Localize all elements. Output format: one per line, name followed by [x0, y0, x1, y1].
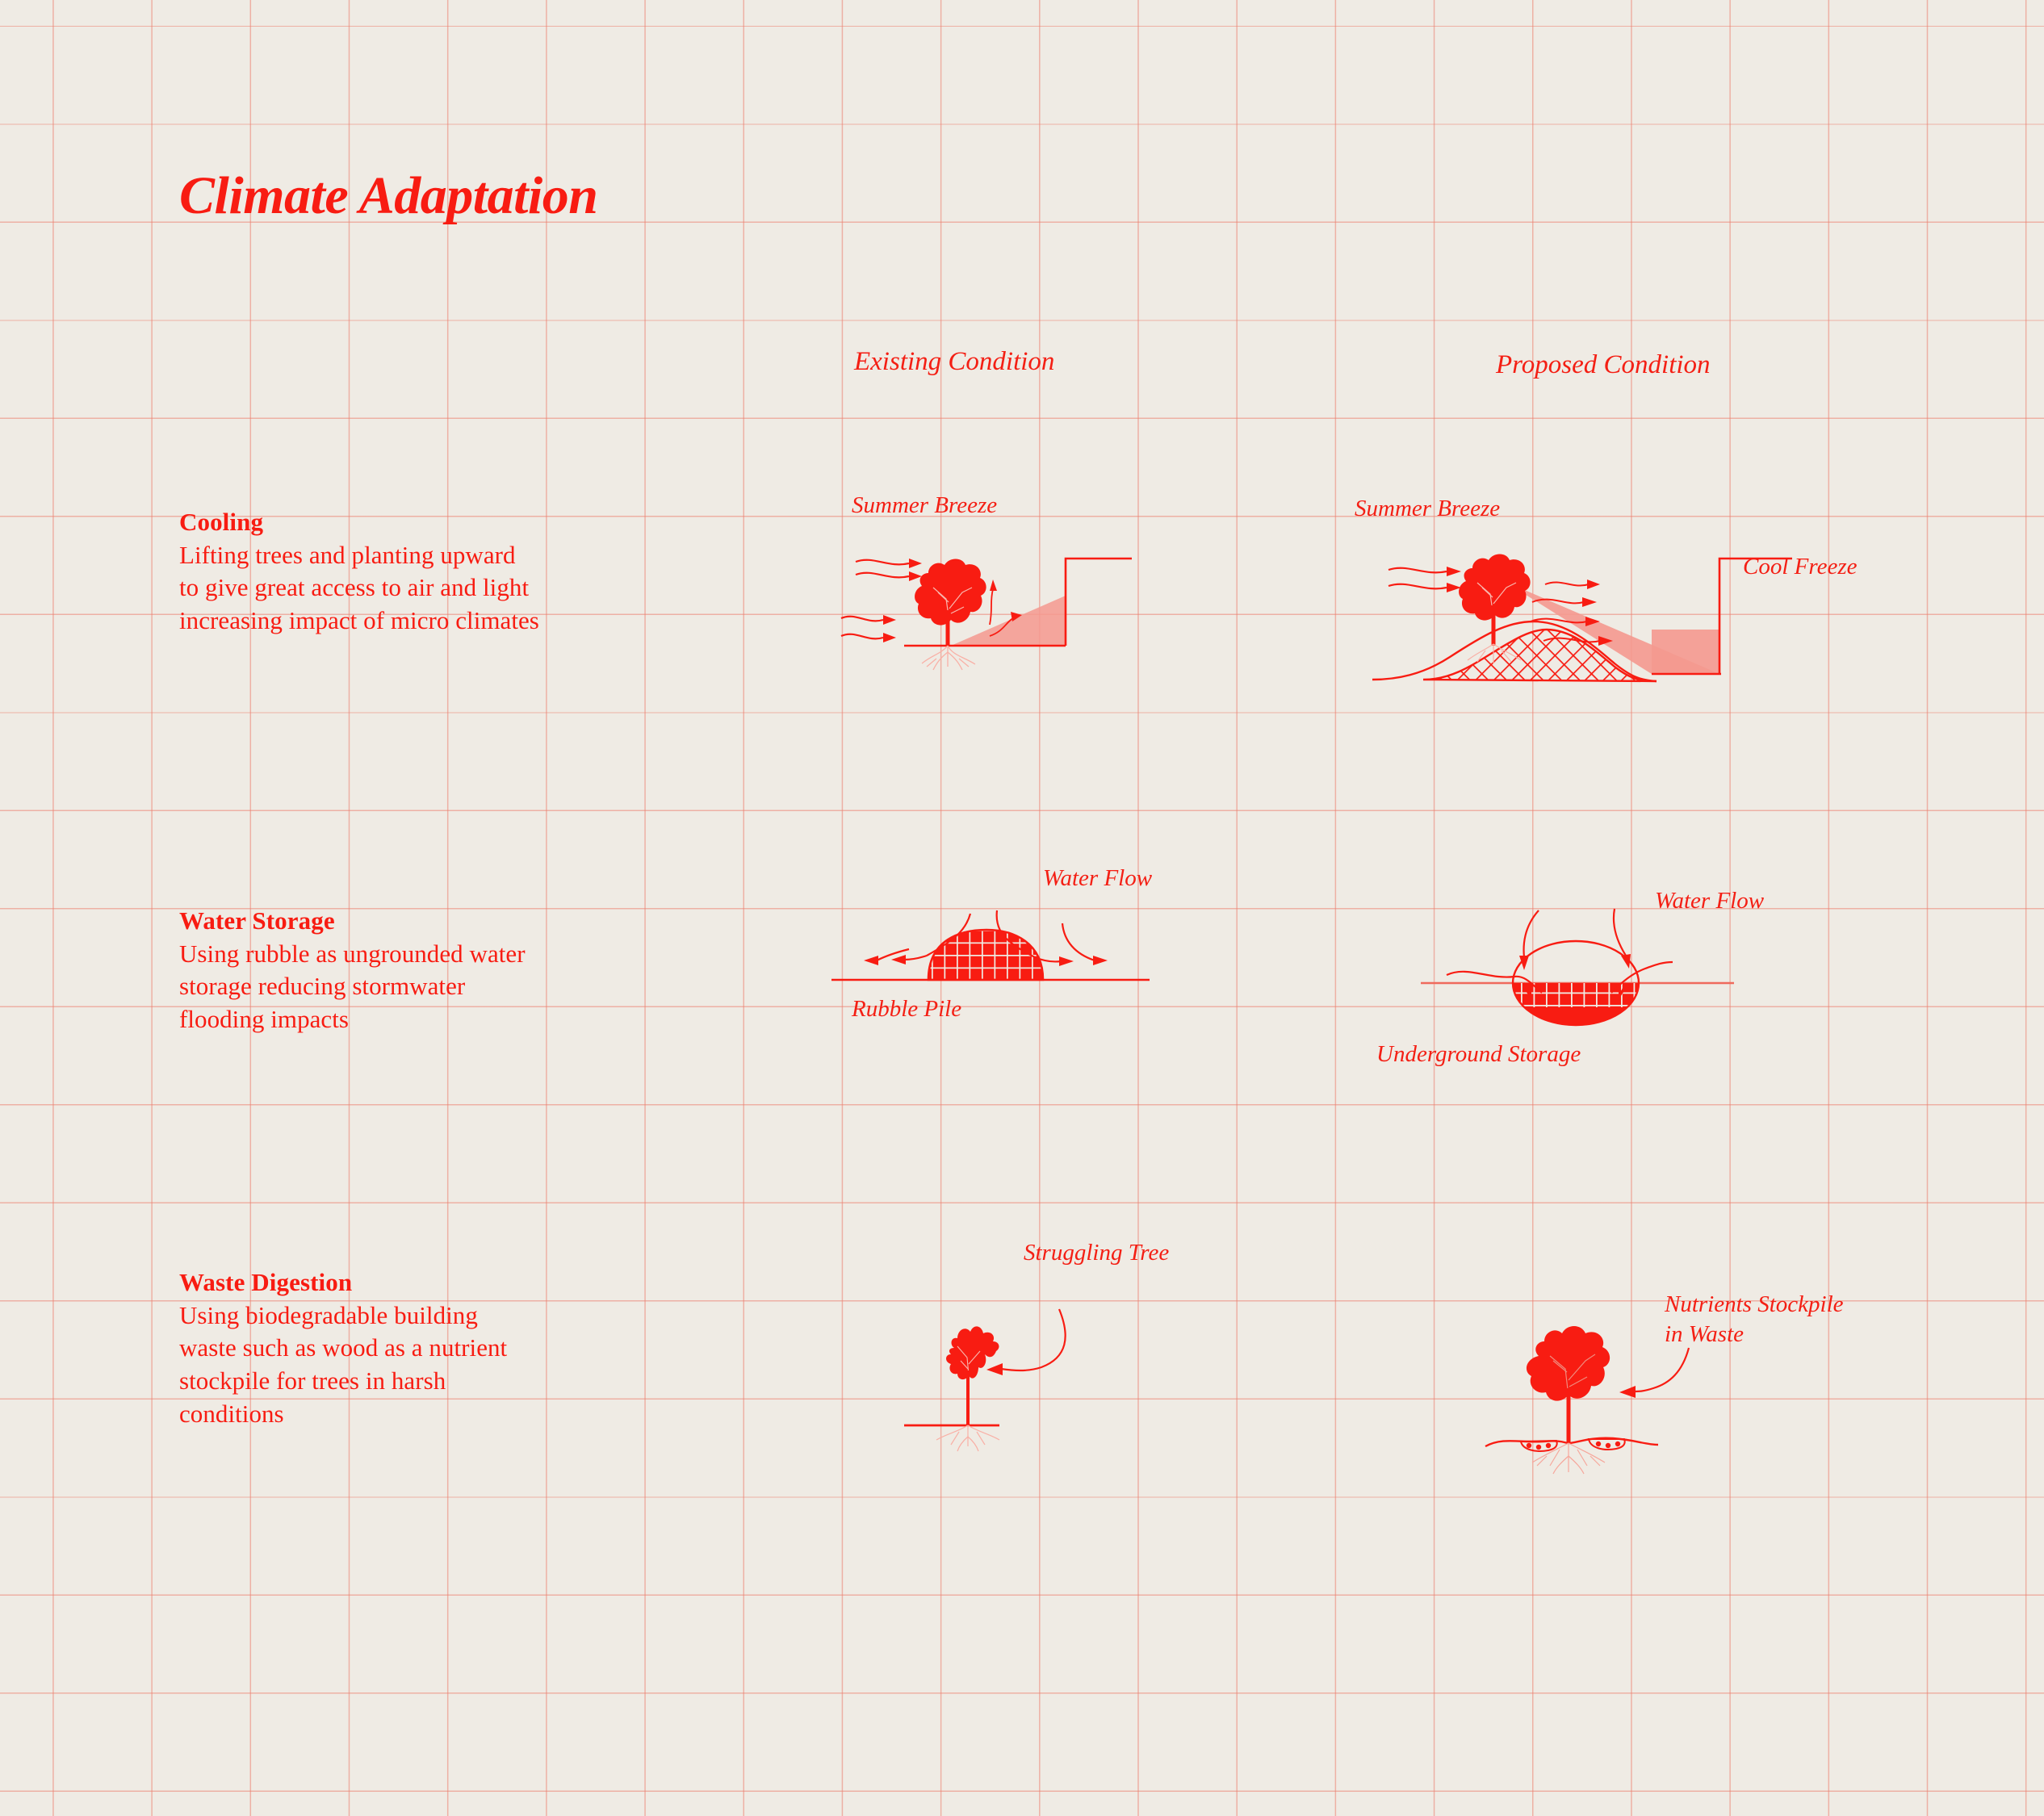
strategy-block-waste-digestion: Waste Digestion Using biodegradable buil…	[179, 1266, 696, 1431]
strategy-body-line: conditions	[179, 1398, 696, 1431]
nutrient-pocket-right	[1589, 1439, 1625, 1450]
figure-water-existing	[831, 880, 1195, 1025]
strategy-body-line: to give great access to air and light	[179, 571, 696, 605]
page-title: Climate Adaptation	[179, 165, 597, 227]
strategy-body-line: storage reducing stormwater	[179, 970, 696, 1003]
water-flow-arrows	[1519, 909, 1631, 970]
figure-waste-existing	[904, 1267, 1243, 1477]
column-header-existing: Existing Condition	[854, 347, 1054, 377]
strategy-block-cooling: Cooling Lifting trees and planting upwar…	[179, 505, 696, 638]
tree-roots	[1532, 1443, 1605, 1474]
strategy-heading: Water Storage	[179, 904, 696, 938]
column-header-proposed: Proposed Condition	[1496, 350, 1711, 380]
tree-roots	[922, 646, 975, 670]
strategy-body-line: stockpile for trees in harsh	[179, 1365, 696, 1398]
figure-water-proposed	[1421, 880, 1800, 1041]
strategy-body-line: flooding impacts	[179, 1003, 696, 1036]
strategy-body-line: Using rubble as ungrounded water	[179, 938, 696, 971]
callout-arrow	[986, 1309, 1066, 1375]
building-profile	[1066, 559, 1132, 646]
strategy-heading: Cooling	[179, 505, 696, 539]
wind-arrows-lower	[841, 615, 896, 642]
strategy-body-line: waste such as wood as a nutrient	[179, 1332, 696, 1365]
strategy-body-line: Lifting trees and planting upward	[179, 539, 696, 572]
building-profile	[1719, 559, 1792, 674]
label-underground-storage: Underground Storage	[1376, 1040, 1581, 1069]
figure-cooling-proposed	[1372, 508, 1824, 702]
tree-canopy	[915, 559, 986, 626]
diagram-sheet: Climate Adaptation Existing Condition Pr…	[0, 0, 2044, 1816]
struggling-tree-canopy	[946, 1326, 999, 1379]
tree-roots	[936, 1425, 999, 1451]
rubble-pile-mound	[928, 930, 1043, 980]
strategy-body-line: Using biodegradable building	[179, 1299, 696, 1333]
figure-waste-proposed	[1485, 1275, 1857, 1477]
shade-wedge-base	[1652, 630, 1719, 674]
strategy-block-water-storage: Water Storage Using rubble as ungrounded…	[179, 904, 696, 1036]
callout-arrow	[1619, 1348, 1689, 1398]
strategy-heading: Waste Digestion	[179, 1266, 696, 1299]
wind-arrows-incoming	[1388, 567, 1461, 592]
strategy-body-line: increasing impact of micro climates	[179, 605, 696, 638]
figure-cooling-existing	[831, 508, 1146, 694]
label-struggling-tree: Struggling Tree	[1024, 1238, 1169, 1268]
wind-arrows-upper	[856, 559, 922, 581]
